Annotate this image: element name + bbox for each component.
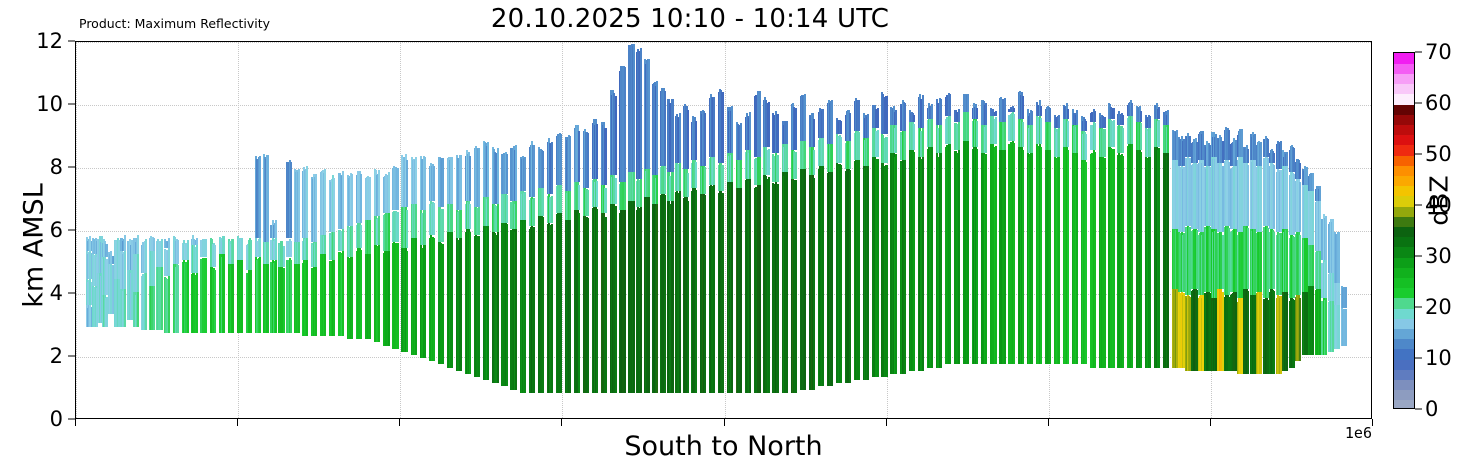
heatmap-cell <box>822 138 824 166</box>
heatmap-cell <box>533 227 535 393</box>
heatmap-cell <box>506 224 508 387</box>
heatmap-cell <box>145 271 147 330</box>
product-label: Product: Maximum Reflectivity <box>79 16 270 31</box>
colorbar-segment <box>1394 288 1414 299</box>
x-axis-tick <box>1048 419 1049 426</box>
heatmap-cell <box>1140 123 1142 150</box>
colorbar-segment <box>1394 339 1414 350</box>
heatmap-cell <box>1058 156 1060 365</box>
heatmap-cell <box>351 225 353 257</box>
colorbar-segment <box>1394 237 1414 248</box>
heatmap-column <box>596 41 598 418</box>
heatmap-cell <box>397 212 399 242</box>
heatmap-cell <box>840 137 842 163</box>
heatmap-column <box>1049 41 1051 418</box>
heatmap-cell <box>560 212 562 392</box>
heatmap-cell <box>187 240 189 260</box>
heatmap-column <box>1158 41 1160 418</box>
heatmap-cell <box>205 258 207 333</box>
heatmap-cell <box>442 158 444 206</box>
heatmap-column <box>497 41 499 418</box>
heatmap-column <box>1094 41 1096 418</box>
heatmap-cell <box>949 116 951 144</box>
heatmap-cell <box>596 209 598 393</box>
heatmap-cell <box>813 150 815 175</box>
heatmap-cell <box>497 230 499 383</box>
heatmap-cell <box>1113 120 1115 147</box>
colorbar-tick <box>1415 256 1422 257</box>
heatmap-cell <box>267 240 269 264</box>
y-axis-tick-label: 12 <box>36 29 63 53</box>
heatmap-cell <box>360 250 362 339</box>
heatmap-cell <box>1031 123 1033 153</box>
heatmap-cell <box>290 241 292 258</box>
heatmap-column <box>949 41 951 418</box>
colorbar-tick <box>1415 205 1422 206</box>
colorbar-segment <box>1394 145 1414 156</box>
heatmap-cell <box>995 146 997 365</box>
heatmap-cell <box>315 266 317 336</box>
heatmap-cell <box>578 213 580 392</box>
heatmap-cell <box>768 149 770 175</box>
heatmap-cell <box>1122 115 1124 125</box>
heatmap-cell <box>315 174 317 241</box>
x-axis-tick <box>237 419 238 426</box>
heatmap-cell <box>777 155 779 182</box>
heatmap-cell <box>232 261 234 333</box>
heatmap-cell <box>822 109 824 137</box>
heatmap-cell <box>1104 158 1106 368</box>
colorbar-segment <box>1394 400 1414 409</box>
heatmap-column <box>1067 41 1069 418</box>
heatmap-cell <box>137 235 139 254</box>
heatmap-cell <box>786 171 788 392</box>
heatmap-cell <box>605 217 607 393</box>
heatmap-cell <box>478 236 480 377</box>
heatmap-cell <box>656 201 658 393</box>
heatmap-cell <box>415 236 417 355</box>
heatmap-cell <box>524 192 526 220</box>
colorbar-segment <box>1394 349 1414 360</box>
colorbar-segment <box>1394 94 1414 105</box>
heatmap-cell <box>679 160 681 191</box>
heatmap-cell <box>713 97 715 157</box>
heatmap-cell <box>967 110 969 141</box>
heatmap-cell <box>360 174 362 223</box>
heatmap-column <box>605 41 607 418</box>
heatmap-cell <box>672 171 674 200</box>
heatmap-cell <box>664 91 666 166</box>
x-axis-tick <box>886 419 887 426</box>
heatmap-cell <box>487 142 489 198</box>
heatmap-cell <box>1022 150 1024 365</box>
heatmap-column <box>768 41 770 418</box>
heatmap-cell <box>360 225 362 248</box>
heatmap-cell <box>1149 116 1151 128</box>
heatmap-column <box>1076 41 1078 418</box>
heatmap-cell <box>886 96 888 134</box>
colorbar-tick <box>1415 154 1422 155</box>
colorbar-segment <box>1394 318 1414 329</box>
heatmap-cell <box>1022 122 1024 148</box>
heatmap-cell <box>1085 121 1087 131</box>
heatmap-column <box>161 41 163 418</box>
heatmap-cell <box>487 195 489 226</box>
heatmap-cell <box>1104 129 1106 156</box>
heatmap-cell <box>369 252 371 339</box>
heatmap-cell <box>1167 110 1169 125</box>
y-axis-tick-label: 2 <box>50 344 63 368</box>
heatmap-cell <box>533 198 535 226</box>
heatmap-column <box>177 41 179 418</box>
heatmap-cell <box>759 154 761 185</box>
heatmap-cell <box>578 131 580 181</box>
heatmap-column <box>275 41 277 418</box>
heatmap-cell <box>487 223 489 380</box>
heatmap-cell <box>768 102 770 147</box>
colorbar-segment <box>1394 390 1414 401</box>
heatmap-cell <box>306 166 308 239</box>
heatmap-cell <box>506 154 508 194</box>
heatmap-cell <box>196 273 198 333</box>
heatmap-cell <box>388 210 390 251</box>
heatmap-cell <box>795 180 797 392</box>
heatmap-cell <box>497 202 499 233</box>
heatmap-column <box>976 41 978 418</box>
heatmap-cell <box>196 238 198 245</box>
heatmap-column <box>1149 41 1151 418</box>
heatmap-cell <box>283 246 285 267</box>
x-axis-label: South to North <box>75 431 1372 462</box>
heatmap-cell <box>664 166 666 194</box>
heatmap-column <box>267 41 269 418</box>
heatmap-cell <box>1104 117 1106 128</box>
heatmap-column <box>786 41 788 418</box>
heatmap-cell <box>840 165 842 383</box>
heatmap-cell <box>731 150 733 181</box>
heatmap-cell <box>967 138 969 365</box>
heatmap-cell <box>858 132 860 160</box>
heatmap-column <box>369 41 371 418</box>
heatmap-cell <box>515 145 517 200</box>
heatmap-cell <box>931 104 933 119</box>
heatmap-column <box>223 41 225 418</box>
heatmap-cell <box>858 160 860 380</box>
heatmap-cell <box>624 180 626 210</box>
heatmap-cell <box>145 239 147 273</box>
heatmap-column <box>804 41 806 418</box>
heatmap-cell <box>397 243 399 348</box>
heatmap-cell <box>958 109 960 122</box>
heatmap-cell <box>415 157 417 204</box>
heatmap-cell <box>722 92 724 163</box>
heatmap-cell <box>451 229 453 367</box>
heatmap-column <box>985 41 987 418</box>
heatmap-cell <box>831 170 833 387</box>
heatmap-cell <box>913 152 915 370</box>
colorbar-segment <box>1394 84 1414 95</box>
x-axis-tick <box>561 419 562 426</box>
heatmap-column <box>542 41 544 418</box>
colorbar-segment <box>1394 53 1414 64</box>
heatmap-column <box>886 41 888 418</box>
heatmap-cell <box>153 238 155 251</box>
heatmap-cell <box>569 218 571 392</box>
heatmap-cell <box>731 106 733 153</box>
heatmap-cell <box>931 144 933 367</box>
heatmap-cell <box>275 258 277 333</box>
heatmap-cell <box>342 171 344 229</box>
colorbar-segment <box>1394 165 1414 176</box>
heatmap-column <box>1104 41 1106 418</box>
heatmap-cell <box>1049 149 1051 364</box>
heatmap-column <box>442 41 444 418</box>
heatmap-cell <box>813 178 815 389</box>
heatmap-column <box>360 41 362 418</box>
heatmap-column <box>904 41 906 418</box>
heatmap-column <box>1004 41 1006 418</box>
heatmap-column <box>153 41 155 418</box>
heatmap-cell <box>587 133 589 188</box>
heatmap-cell <box>1040 118 1042 144</box>
colorbar-tick-label: 50 <box>1425 142 1452 166</box>
heatmap-cell <box>985 125 987 153</box>
heatmap-cell <box>786 143 788 172</box>
heatmap-cell <box>1094 152 1096 368</box>
heatmap-cell <box>506 195 508 222</box>
heatmap-column <box>913 41 915 418</box>
colorbar-segment <box>1394 247 1414 258</box>
heatmap-cell <box>1058 127 1060 156</box>
heatmap-cell <box>704 167 706 195</box>
heatmap-cell <box>648 59 650 169</box>
heatmap-cell <box>1076 110 1078 125</box>
colorbar-segment <box>1394 298 1414 309</box>
heatmap-cell <box>223 236 225 255</box>
heatmap-cell <box>1149 157 1151 368</box>
heatmap-cell <box>161 264 163 330</box>
heatmap-column <box>351 41 353 418</box>
heatmap-cell <box>695 121 697 160</box>
y-axis-tick <box>68 104 75 105</box>
heatmap-cell <box>378 214 380 245</box>
heatmap-cell <box>1049 121 1051 150</box>
colorbar-tick <box>1415 409 1422 410</box>
heatmap-cell <box>1013 143 1015 365</box>
heatmap-cell <box>551 196 553 223</box>
heatmap-column <box>731 41 733 418</box>
heatmap-cell <box>460 208 462 238</box>
heatmap-cell <box>1067 109 1069 119</box>
heatmap-cell <box>177 265 179 333</box>
heatmap-cell <box>478 207 480 235</box>
heatmap-cell <box>895 125 897 153</box>
heatmap-cell <box>542 151 544 188</box>
heatmap-cell <box>451 201 453 232</box>
heatmap-column <box>877 41 879 418</box>
colorbar-segment <box>1394 63 1414 74</box>
heatmap-cell <box>777 184 779 393</box>
heatmap-cell <box>442 209 444 242</box>
heatmap-cell <box>695 190 697 392</box>
heatmap-cell <box>1031 152 1033 365</box>
heatmap-cell <box>895 110 897 125</box>
heatmap-cell <box>433 203 435 235</box>
heatmap-cell <box>1167 122 1169 153</box>
heatmap-cell <box>551 142 553 194</box>
heatmap-cell <box>759 91 761 156</box>
heatmap-cell <box>624 67 626 182</box>
heatmap-cell <box>275 236 277 260</box>
heatmap-column <box>1113 41 1115 418</box>
heatmap-cell <box>704 195 706 393</box>
heatmap-column <box>1085 41 1087 418</box>
heatmap-cell <box>497 148 499 204</box>
heatmap-column <box>1013 41 1015 418</box>
heatmap-cell <box>1113 149 1115 368</box>
colorbar-segment <box>1394 267 1414 278</box>
y-axis-tick-label: 0 <box>50 407 63 431</box>
heatmap-cell <box>931 116 933 147</box>
heatmap-cell <box>640 206 642 393</box>
heatmap-column <box>687 41 689 418</box>
x-axis-exponent: 1e6 <box>1290 424 1372 442</box>
colorbar-tick-label: 10 <box>1425 346 1452 370</box>
x-axis-tick <box>1210 419 1211 426</box>
heatmap-column <box>995 41 997 418</box>
heatmap-cell <box>1013 114 1015 140</box>
heatmap-cell <box>137 289 139 327</box>
heatmap-cell <box>777 114 779 153</box>
y-axis-tick <box>68 356 75 357</box>
x-axis-tick <box>724 419 725 426</box>
heatmap-cell <box>153 251 155 286</box>
heatmap-column <box>895 41 897 418</box>
heatmap-column <box>1031 41 1033 418</box>
heatmap-cell <box>672 99 674 172</box>
heatmap-cell <box>424 210 426 244</box>
heatmap-cell <box>1113 108 1115 119</box>
heatmap-cell <box>290 162 292 238</box>
heatmap-column <box>424 41 426 418</box>
heatmap-column <box>840 41 842 418</box>
heatmap-cell <box>1076 123 1078 153</box>
heatmap-cell <box>640 177 642 207</box>
heatmap-cell <box>214 245 216 267</box>
heatmap-column <box>533 41 535 418</box>
colorbar-segment <box>1394 369 1414 380</box>
colorbar-segment <box>1394 114 1414 125</box>
heatmap-column <box>469 41 471 418</box>
heatmap-column <box>795 41 797 418</box>
heatmap-cell <box>687 173 689 198</box>
heatmap-cell <box>259 238 261 258</box>
heatmap-column <box>378 41 380 418</box>
heatmap-column <box>406 41 408 418</box>
y-axis-tick-label: 4 <box>50 281 63 305</box>
heatmap-cell <box>578 185 580 210</box>
heatmap-cell <box>1094 111 1096 122</box>
heatmap-cell <box>749 175 751 392</box>
heatmap-column <box>433 41 435 418</box>
heatmap-cell <box>388 172 390 213</box>
heatmap-cell <box>324 251 326 336</box>
heatmap-cell <box>849 113 851 141</box>
heatmap-cell <box>904 131 906 159</box>
heatmap-cell <box>687 110 689 170</box>
heatmap-cell <box>605 128 607 184</box>
plot-area[interactable] <box>75 41 1372 419</box>
heatmap-column <box>578 41 580 418</box>
heatmap-cell <box>1167 151 1169 368</box>
heatmap-cell <box>1122 156 1124 367</box>
y-axis-tick <box>68 230 75 231</box>
colorbar-tick-label: 0 <box>1425 397 1438 421</box>
heatmap-column <box>967 41 969 418</box>
heatmap-column <box>241 41 243 418</box>
heatmap-cell <box>275 220 277 238</box>
heatmap-cell <box>940 124 942 153</box>
heatmap-cell <box>232 239 234 264</box>
heatmap-cell <box>241 260 243 333</box>
heatmap-cell <box>656 172 658 203</box>
heatmap-cell <box>1149 128 1151 156</box>
y-axis-tick <box>68 167 75 168</box>
heatmap-column <box>958 41 960 418</box>
heatmap-column <box>1131 41 1133 418</box>
heatmap-cell <box>460 237 462 371</box>
reflectivity-heatmap <box>76 42 1371 418</box>
heatmap-column <box>624 41 626 418</box>
heatmap-cell <box>877 108 879 128</box>
heatmap-column <box>1040 41 1042 418</box>
heatmap-cell <box>640 48 642 178</box>
heatmap-cell <box>1345 309 1347 345</box>
heatmap-cell <box>1085 134 1087 160</box>
heatmap-cell <box>904 160 906 374</box>
heatmap-cell <box>223 251 225 333</box>
heatmap-column <box>1345 41 1347 418</box>
heatmap-cell <box>1158 148 1160 367</box>
heatmap-cell <box>187 259 189 333</box>
heatmap-cell <box>615 206 617 393</box>
heatmap-cell <box>469 204 471 229</box>
heatmap-column <box>333 41 335 418</box>
heatmap-cell <box>1058 115 1060 129</box>
heatmap-cell <box>849 170 851 384</box>
heatmap-cell <box>849 141 851 169</box>
heatmap-cell <box>1076 151 1078 364</box>
heatmap-cell <box>259 257 261 333</box>
heatmap-column <box>506 41 508 418</box>
heatmap-cell <box>813 119 815 147</box>
heatmap-column <box>672 41 674 418</box>
heatmap-cell <box>995 111 997 116</box>
heatmap-column <box>587 41 589 418</box>
heatmap-cell <box>749 147 751 179</box>
x-axis-tick <box>1372 419 1373 426</box>
heatmap-column <box>145 41 147 418</box>
colorbar[interactable] <box>1393 52 1415 409</box>
colorbar-segment <box>1394 155 1414 166</box>
heatmap-cell <box>731 179 733 393</box>
heatmap-cell <box>351 174 353 225</box>
heatmap-cell <box>913 115 915 122</box>
heatmap-cell <box>904 103 906 131</box>
heatmap-column <box>460 41 462 418</box>
heatmap-column <box>695 41 697 418</box>
heatmap-column <box>232 41 234 418</box>
